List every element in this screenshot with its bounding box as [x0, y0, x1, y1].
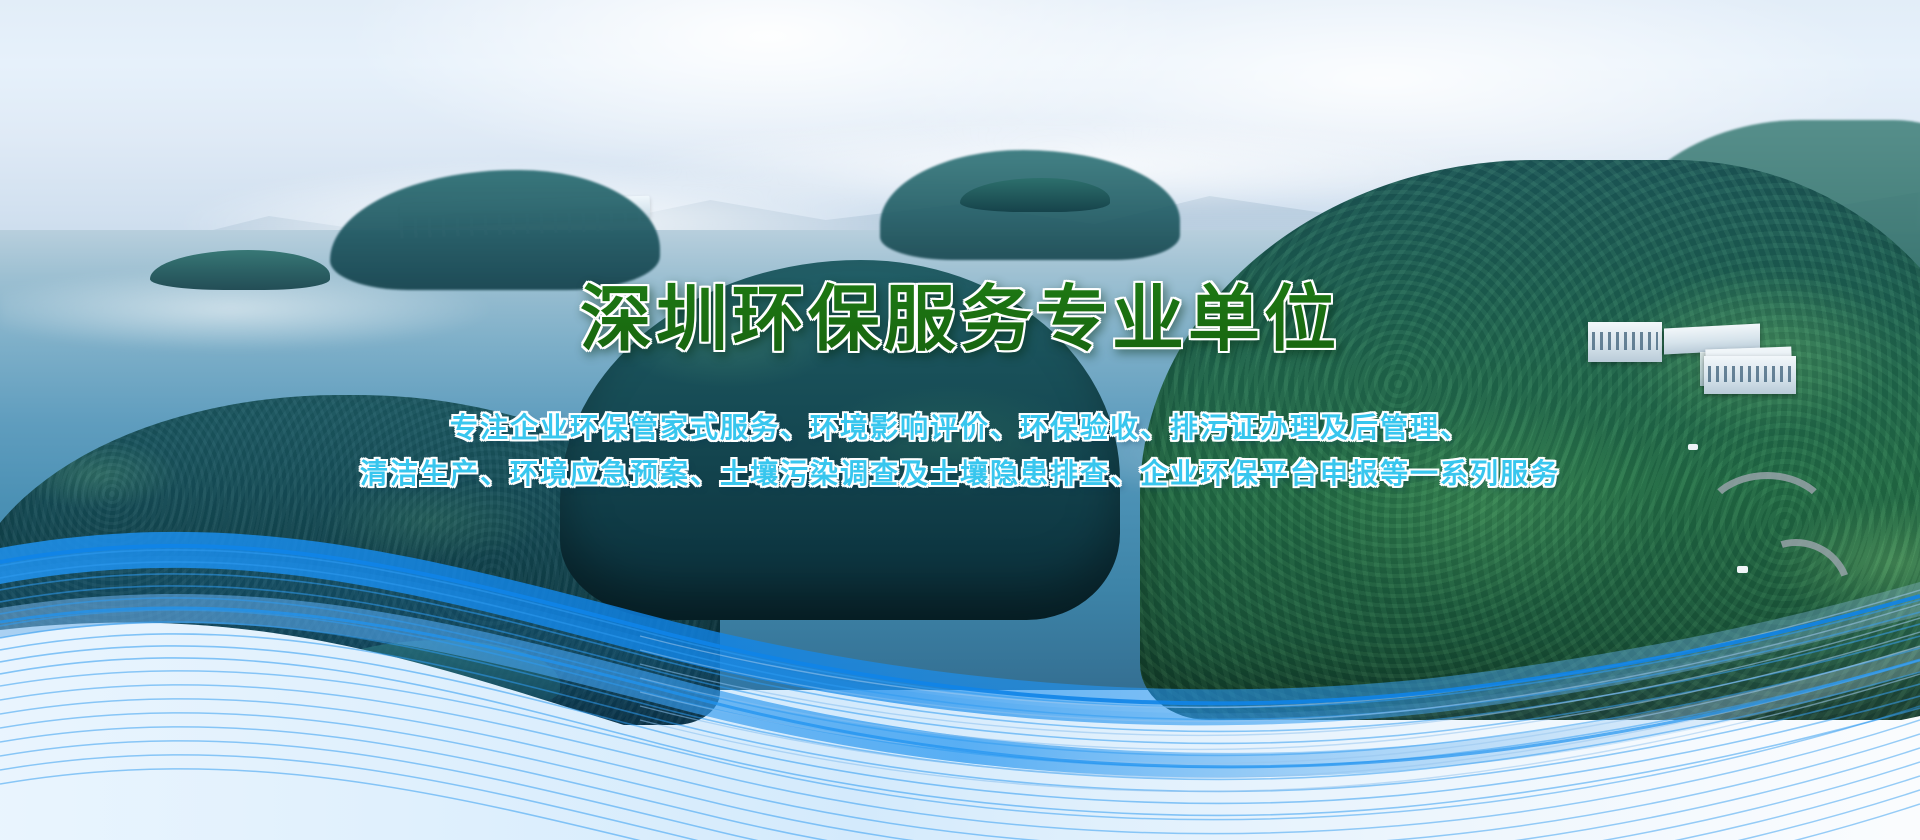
page-title: 深圳环保服务专业单位 — [0, 0, 1920, 355]
hero-banner: 深圳环保服务专业单位 专注企业环保管家式服务、环境影响评价、环保验收、排污证办理… — [0, 0, 1920, 840]
banner-subtitle: 专注企业环保管家式服务、环境影响评价、环保验收、排污证办理及后管理、 清洁生产、… — [0, 355, 1920, 497]
subtitle-line-1: 专注企业环保管家式服务、环境影响评价、环保验收、排污证办理及后管理、 — [0, 405, 1920, 451]
banner-copy: 深圳环保服务专业单位 专注企业环保管家式服务、环境影响评价、环保验收、排污证办理… — [0, 0, 1920, 497]
vehicle-1 — [1737, 566, 1748, 573]
subtitle-line-2: 清洁生产、环境应急预案、土壤污染调查及土壤隐患排查、企业环保平台申报等一系列服务 — [0, 451, 1920, 497]
